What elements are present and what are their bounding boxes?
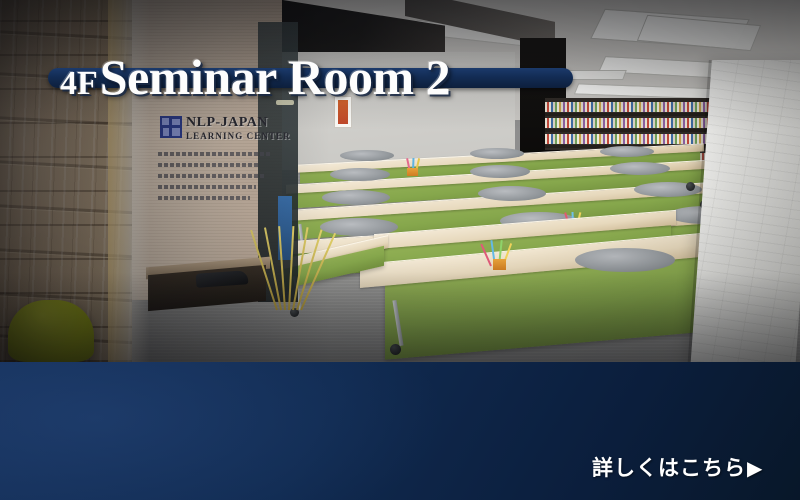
play-arrow-icon: ▶ <box>747 458 763 480</box>
room-name: Seminar Room 2 <box>100 49 450 105</box>
title-block: 4FSeminar Room 2 <box>0 28 800 92</box>
seminar-room-banner: NLP-JAPAN LEARNING CENTER <box>0 0 800 500</box>
more-details-link[interactable]: 詳しくはこちら▶ <box>592 452 763 482</box>
more-details-label: 詳しくはこちら <box>592 456 746 480</box>
floor-number: 4F <box>60 65 98 102</box>
page-title: 4FSeminar Room 2 <box>60 52 450 102</box>
